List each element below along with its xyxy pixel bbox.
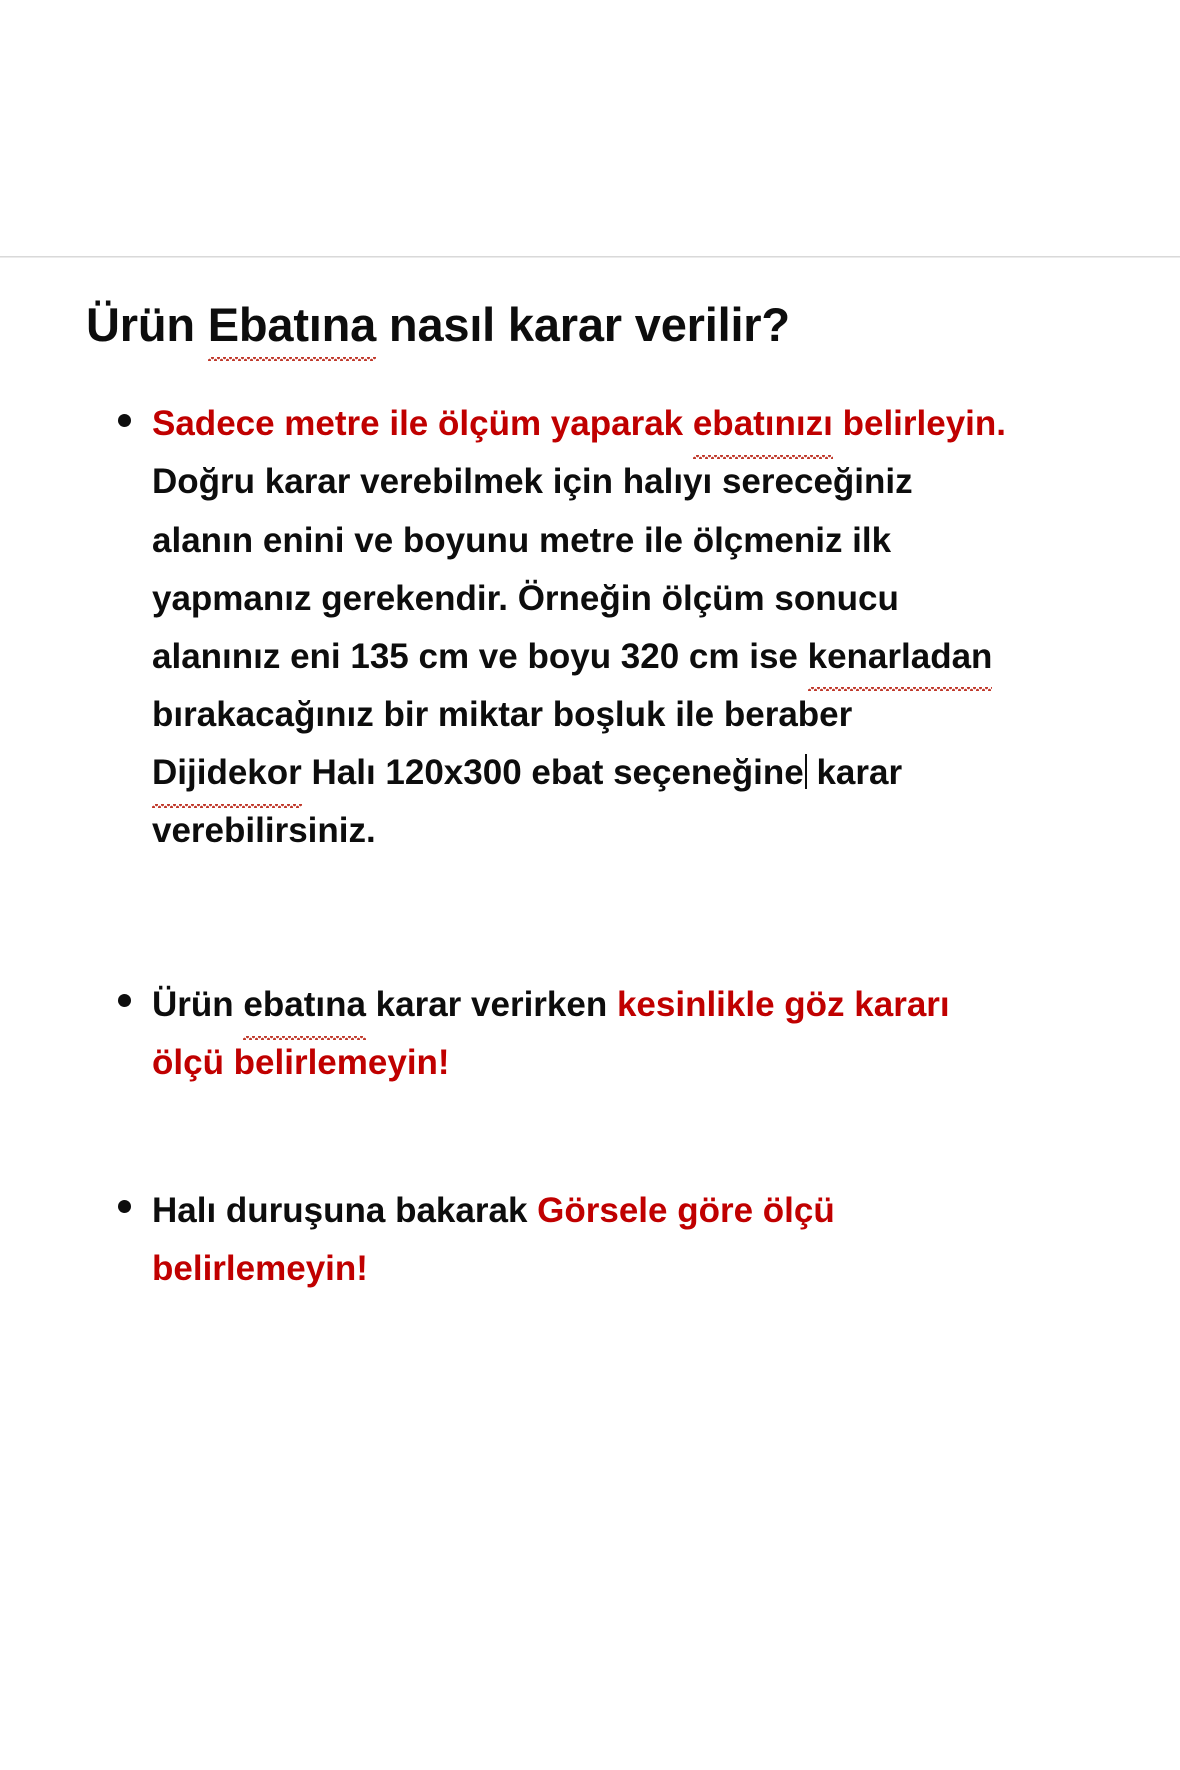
bullet-1-body-c: Halı 120x300 ebat seçeneğine <box>302 753 804 792</box>
bullet-disc-icon <box>118 994 131 1007</box>
bullet-1-misspelled-kenarladan: kenarladan <box>808 628 993 686</box>
title-segment-plain-tail: nasıl karar verilir? <box>376 298 790 351</box>
list-item: Sadece metre ile ölçüm yaparak ebatınızı… <box>0 395 1180 860</box>
text-insertion-caret[interactable] <box>805 754 807 788</box>
bullet-1-body-a: Doğru karar verebilmek için halıyı serec… <box>152 462 913 675</box>
title-segment-misspelled: Ebatına <box>208 296 376 353</box>
bullet-list: Sadece metre ile ölçüm yaparak ebatınızı… <box>0 395 1180 1298</box>
slide-canvas: Ürün Ebatına nasıl karar verilir? Sadece… <box>0 0 1180 1770</box>
bullet-2-mid: karar verirken <box>366 985 617 1024</box>
bullet-1-misspelled-dijidekor: Dijidekor <box>152 744 302 802</box>
bullet-disc-icon <box>118 1200 131 1213</box>
bullet-1-red-lead-b: belirleyin. <box>833 404 1006 443</box>
bullet-2-misspelled-ebatina: ebatına <box>243 976 366 1034</box>
page-title: Ürün Ebatına nasıl karar verilir? <box>0 296 1180 353</box>
list-item: Halı duruşuna bakarak Görsele göre ölçü … <box>0 1182 1180 1298</box>
title-segment-plain-lead: Ürün <box>86 298 208 351</box>
list-item: Ürün ebatına karar verirken kesinlikle g… <box>0 976 1180 1092</box>
bullet-1-red-misspelled: ebatınızı <box>693 395 833 453</box>
bullet-2-lead: Ürün <box>152 985 243 1024</box>
header-divider-rule <box>0 256 1180 258</box>
bullet-disc-icon <box>118 414 131 427</box>
bullet-3-lead: Halı duruşuna bakarak <box>152 1191 537 1230</box>
slide-content-area: Ürün Ebatına nasıl karar verilir? Sadece… <box>0 296 1180 1298</box>
bullet-1-body-b: bırakacağınız bir miktar boşluk ile bera… <box>152 695 852 734</box>
bullet-1-red-lead-a: Sadece metre ile ölçüm yaparak <box>152 404 693 443</box>
